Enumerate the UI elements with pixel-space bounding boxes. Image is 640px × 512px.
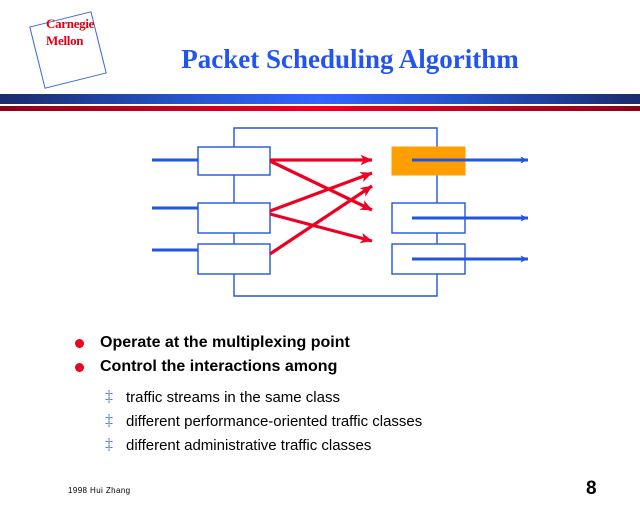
double-dagger-icon: ‡ [105, 433, 113, 456]
scheduling-arrow [270, 186, 372, 254]
input-queue-boxes [198, 147, 270, 274]
top-bus-connector [234, 128, 437, 147]
sub-bullet-item: ‡ different performance-oriented traffic… [105, 410, 625, 433]
scheduling-arrows [270, 160, 372, 254]
double-dagger-icon: ‡ [105, 409, 113, 432]
bullet-item: Control the interactions among [70, 355, 610, 378]
scheduling-arrow [270, 161, 372, 210]
input-queue-box [198, 203, 270, 233]
packet-scheduling-diagram [0, 118, 640, 308]
sub-bullet-item: ‡ different administrative traffic class… [105, 434, 625, 457]
logo-line-1: Carnegie [46, 15, 131, 32]
sub-bullet-text: different performance-oriented traffic c… [126, 413, 422, 430]
input-queue-box [198, 244, 270, 274]
output-queue-boxes [392, 147, 465, 274]
sub-bullet-text: traffic streams in the same class [126, 389, 340, 406]
page-number: 8 [586, 478, 597, 500]
input-queue-box [198, 147, 270, 175]
page-title: Packet Scheduling Algorithm [140, 44, 560, 74]
divider-bar-red [0, 106, 640, 111]
bullet-list: Operate at the multiplexing point Contro… [70, 331, 610, 379]
scheduling-arrow [270, 214, 372, 241]
sub-bullet-item: ‡ traffic streams in the same class [105, 386, 625, 409]
divider-bar-blue [0, 94, 640, 104]
bullet-text: Control the interactions among [100, 358, 337, 375]
disc-bullet-icon [75, 339, 84, 348]
bullet-item: Operate at the multiplexing point [70, 331, 610, 354]
sub-bullet-list: ‡ traffic streams in the same class ‡ di… [105, 386, 625, 458]
logo-line-2: Mellon [46, 32, 131, 49]
slide-canvas: Carnegie Mellon Packet Scheduling Algori… [0, 0, 640, 512]
bullet-text: Operate at the multiplexing point [100, 334, 350, 351]
carnegie-mellon-logo: Carnegie Mellon [16, 8, 126, 90]
disc-bullet-icon [75, 363, 84, 372]
sub-bullet-text: different administrative traffic classes [126, 437, 371, 454]
logo-text: Carnegie Mellon [46, 15, 131, 49]
scheduling-arrow [270, 173, 372, 211]
double-dagger-icon: ‡ [105, 385, 113, 408]
footer-credit: 1998 Hui Zhang [68, 486, 131, 495]
